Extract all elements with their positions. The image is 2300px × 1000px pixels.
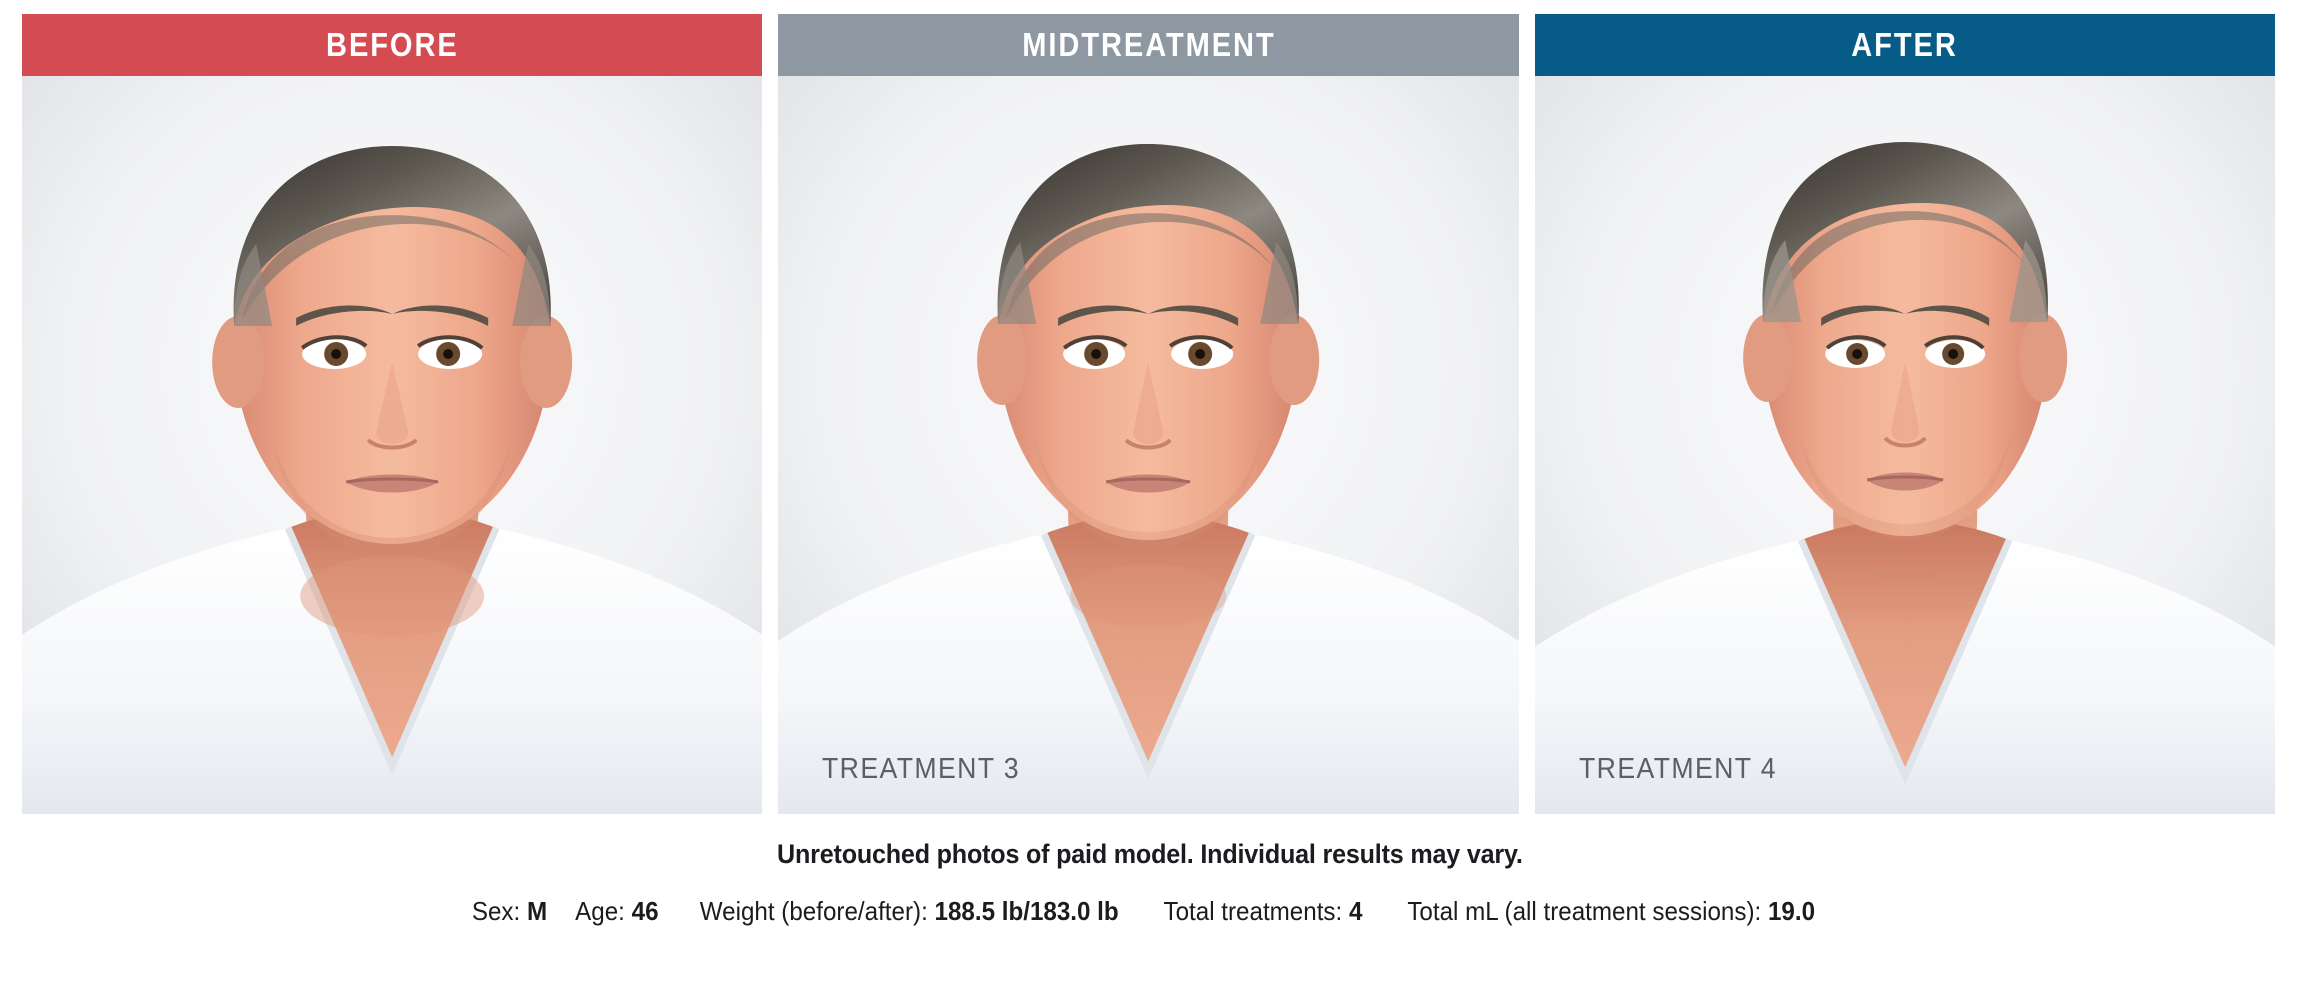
panel-after: AFTER bbox=[1535, 14, 2275, 814]
caption-block: Unretouched photos of paid model. Indivi… bbox=[0, 838, 2300, 928]
photo-panel-row: BEFORE bbox=[22, 14, 2275, 814]
panel-header-label: MIDTREATMENT bbox=[1022, 26, 1275, 64]
photo-after: TREATMENT 4 bbox=[1535, 76, 2275, 814]
portrait-illustration-before bbox=[22, 76, 762, 814]
stat-treatments: Total treatments: 4 bbox=[1164, 896, 1363, 927]
stat-age-value: 46 bbox=[632, 896, 659, 926]
stat-sex-value: M bbox=[527, 896, 547, 926]
photo-before bbox=[22, 76, 762, 814]
comparison-figure: BEFORE bbox=[0, 0, 2300, 1000]
stat-age-label: Age: bbox=[575, 896, 625, 926]
panel-header-before: BEFORE bbox=[22, 14, 762, 76]
disclaimer-label: Unretouched photos of paid model. Indivi… bbox=[777, 838, 1523, 870]
stat-ml-label: Total mL (all treatment sessions): bbox=[1408, 896, 1762, 926]
portrait-illustration-after bbox=[1535, 76, 2275, 814]
stat-treatments-value: 4 bbox=[1349, 896, 1362, 926]
stat-weight-label: Weight (before/after): bbox=[700, 896, 928, 926]
stat-ml-value: 19.0 bbox=[1768, 896, 1815, 926]
stat-weight: Weight (before/after): 188.5 lb/183.0 lb bbox=[700, 896, 1119, 927]
panel-header-label: BEFORE bbox=[326, 26, 459, 64]
panel-midtreatment: MIDTREATMENT bbox=[778, 14, 1518, 814]
panel-before: BEFORE bbox=[22, 14, 762, 814]
panel-header-after: AFTER bbox=[1535, 14, 2275, 76]
treatment-label-text: TREATMENT 3 bbox=[822, 753, 1020, 786]
treatment-label-text: TREATMENT 4 bbox=[1579, 753, 1777, 786]
panel-header-midtreatment: MIDTREATMENT bbox=[778, 14, 1518, 76]
panel-header-label: AFTER bbox=[1852, 26, 1958, 64]
stat-sex-label: Sex: bbox=[472, 896, 520, 926]
disclaimer-text: Unretouched photos of paid model. Indivi… bbox=[0, 838, 2300, 870]
stat-age: Age: 46 bbox=[575, 896, 658, 927]
treatment-label-after: TREATMENT 4 bbox=[1579, 753, 1794, 786]
stat-weight-value: 188.5 lb/183.0 lb bbox=[934, 896, 1118, 926]
stat-ml: Total mL (all treatment sessions): 19.0 bbox=[1408, 896, 1816, 927]
stat-treatments-label: Total treatments: bbox=[1164, 896, 1343, 926]
treatment-label-midtreatment: TREATMENT 3 bbox=[822, 753, 1037, 786]
portrait-illustration-midtreatment bbox=[778, 76, 1518, 814]
photo-midtreatment: TREATMENT 3 bbox=[778, 76, 1518, 814]
stat-sex: Sex: M bbox=[472, 896, 547, 927]
stats-line: Sex: MAge: 46Weight (before/after): 188.… bbox=[0, 896, 2300, 927]
